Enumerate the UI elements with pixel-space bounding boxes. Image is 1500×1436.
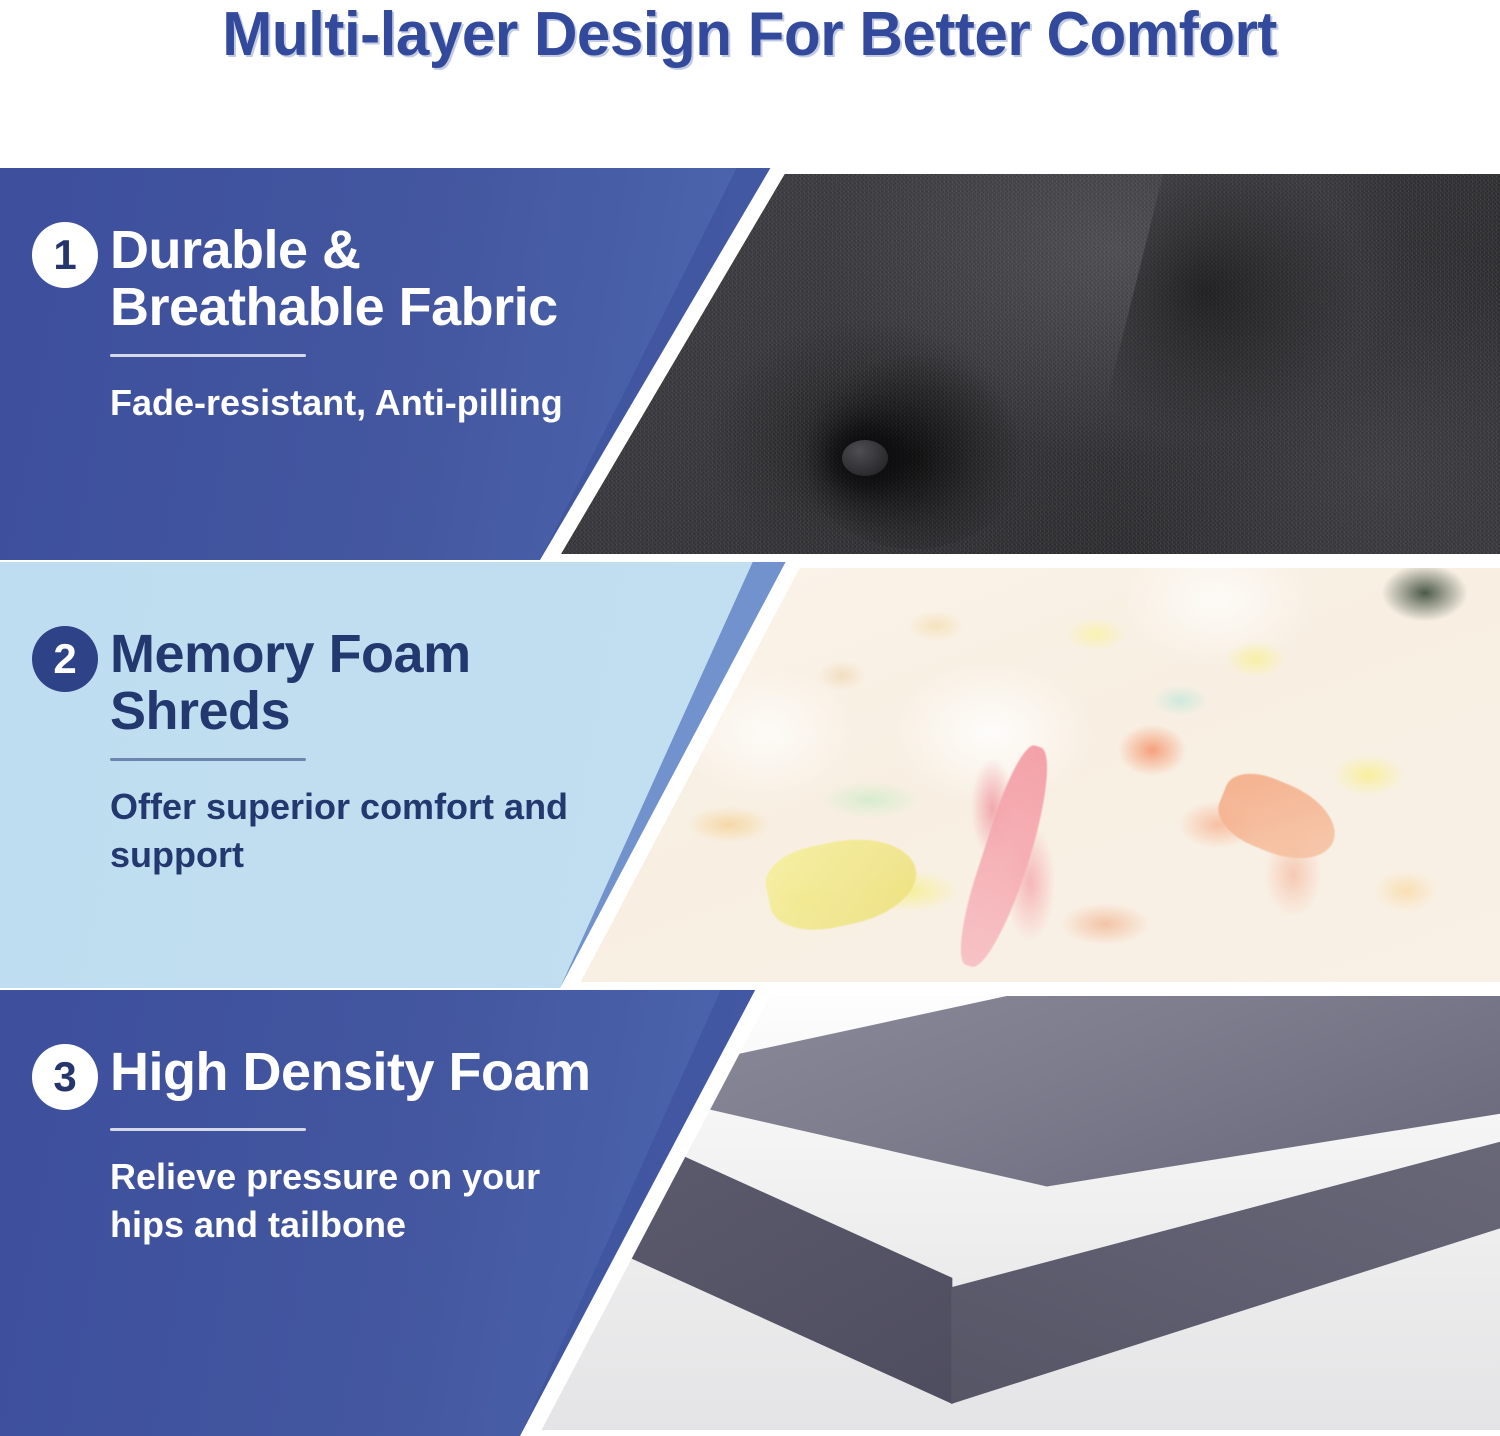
panel-1-text-column: 1 Durable & Breathable Fabric Fade-resis…	[0, 168, 640, 560]
panel-2-photo-area	[560, 562, 1500, 988]
high-density-foam-photo	[520, 996, 1500, 1430]
panel-3-text-column: 3 High Density Foam Relieve pressure on …	[0, 990, 640, 1436]
panel-1-headline: Durable & Breathable Fabric	[110, 222, 640, 336]
panel-2-text-column: 2 Memory Foam Shreds Offer superior comf…	[0, 562, 640, 988]
panel-3-subtext: Relieve pressure on your hips and tailbo…	[110, 1153, 580, 1248]
panel-1-subtext: Fade-resistant, Anti-pilling	[110, 379, 580, 427]
panel-2-divider	[110, 758, 306, 761]
panel-3-divider	[110, 1128, 306, 1131]
fabric-dimple	[799, 349, 1029, 549]
panel-1-divider	[110, 354, 306, 357]
memory-foam-shreds-photo	[560, 568, 1500, 982]
feature-panel-3: 3 High Density Foam Relieve pressure on …	[0, 990, 1500, 1436]
foam-shred-pink	[949, 740, 1064, 973]
panel-3-number-badge: 3	[32, 1044, 98, 1110]
fabric-fold	[1102, 168, 1398, 475]
panel-3-heading-row: 3 High Density Foam	[0, 990, 640, 1110]
panel-2-number-badge: 2	[32, 626, 98, 692]
page-header: Multi-layer Design For Better Comfort	[0, 0, 1500, 168]
feature-panel-1: 1 Durable & Breathable Fabric Fade-resis…	[0, 168, 1500, 560]
panel-2-subtext: Offer superior comfort and support	[110, 783, 620, 878]
fabric-photo	[540, 174, 1500, 554]
panel-1-number-badge: 1	[32, 222, 98, 288]
panel-1-heading-row: 1 Durable & Breathable Fabric	[0, 168, 640, 336]
panel-3-headline: High Density Foam	[110, 1044, 591, 1101]
foam-shred-orange	[1209, 763, 1346, 873]
panel-3-photo-area	[520, 990, 1500, 1436]
panel-1-photo-area	[540, 168, 1500, 560]
panel-2-headline: Memory Foam Shreds	[110, 626, 640, 740]
foam-shred-yellow	[760, 827, 924, 940]
panel-2-heading-row: 2 Memory Foam Shreds	[0, 562, 640, 740]
feature-panel-2: 2 Memory Foam Shreds Offer superior comf…	[0, 562, 1500, 988]
page-title: Multi-layer Design For Better Comfort	[223, 2, 1278, 67]
